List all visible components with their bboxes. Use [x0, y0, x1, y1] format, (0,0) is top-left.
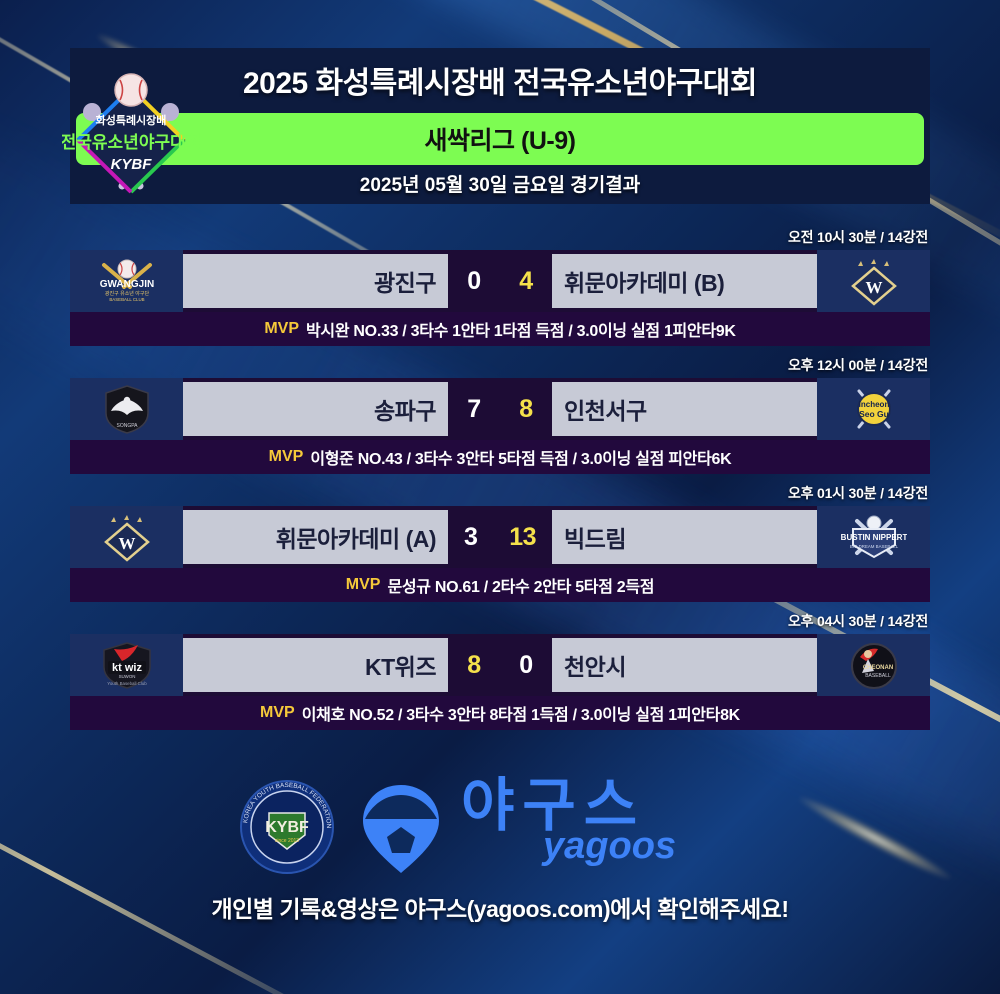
svg-text:Youth Baseball Club: Youth Baseball Club — [107, 681, 147, 686]
home-team-logo: GWANGJIN 광진구 유소년 야구단 BASEBALL CLUB — [70, 250, 183, 312]
game-row[interactable]: 오전 10시 30분 / 14강전 GWANGJIN 광진구 유소년 야구단 B… — [70, 224, 930, 346]
score-cell: 8 0 — [448, 634, 552, 696]
svg-text:Incheon: Incheon — [858, 400, 889, 409]
svg-text:W: W — [118, 534, 135, 553]
home-team-name: 광진구 — [374, 264, 436, 298]
mvp-detail: 박시완 NO.33 / 3타수 1안타 1타점 득점 / 3.0이닝 실점 1피… — [306, 317, 736, 341]
away-team-name: 인천서구 — [564, 392, 647, 426]
kybf-badge-text: KYBF — [265, 819, 309, 836]
away-team-name: 천안시 — [564, 648, 626, 682]
home-team-name: 휘문아카데미 (A) — [276, 520, 436, 554]
footer-logos: KYBF since 2013 KOREA YOUTH BASEBALL FED… — [0, 772, 1000, 882]
svg-text:CHEONAN: CHEONAN — [862, 665, 892, 671]
svg-text:BIG DREAM BASEBALL: BIG DREAM BASEBALL — [849, 544, 898, 549]
scoreline: SONGPA 송파구 7 8 인천서구 Incheon — [70, 378, 930, 440]
mvp-label: MVP — [269, 448, 304, 466]
away-team-cell: 빅드림 — [552, 510, 817, 564]
svg-text:kt wiz: kt wiz — [112, 662, 142, 674]
mvp-bar: MVP 이형준 NO.43 / 3타수 3안타 5타점 득점 / 3.0이닝 실… — [70, 440, 930, 474]
mvp-label: MVP — [346, 576, 381, 594]
svg-text:BASEBALL: BASEBALL — [865, 673, 891, 679]
scoreline: kt wiz SUWON Youth Baseball Club KT위즈 8 … — [70, 634, 930, 696]
game-time-round: 오후 04시 30분 / 14강전 — [70, 608, 930, 634]
svg-text:W: W — [865, 278, 882, 297]
home-team-logo: W — [70, 506, 183, 568]
home-team-logo: SONGPA — [70, 378, 183, 440]
mvp-bar: MVP 문성규 NO.61 / 2타수 2안타 5타점 2득점 — [70, 568, 930, 602]
away-team-cell: 휘문아카데미 (B) — [552, 254, 817, 308]
mvp-detail: 문성규 NO.61 / 2타수 2안타 5타점 2득점 — [387, 573, 654, 597]
game-time-round: 오후 01시 30분 / 14강전 — [70, 480, 930, 506]
score-cell: 7 8 — [448, 378, 552, 440]
svg-text:Seo Gu: Seo Gu — [859, 409, 889, 419]
emblem-top-text: 화성특례시장배 — [96, 113, 167, 127]
svg-text:SONGPA: SONGPA — [116, 423, 138, 429]
yagoos-wordmark: 야구스 yagoos — [461, 775, 761, 879]
home-team-cell: KT위즈 — [183, 638, 448, 692]
away-team-score: 0 — [519, 651, 532, 680]
yagoos-brand: 야구스 yagoos — [349, 775, 761, 879]
home-team-score: 3 — [464, 523, 477, 552]
home-team-cell: 광진구 — [183, 254, 448, 308]
away-team-score: 8 — [519, 395, 532, 424]
league-banner: 새싹리그 (U-9) — [76, 113, 924, 165]
mvp-bar: MVP 박시완 NO.33 / 3타수 1안타 1타점 득점 / 3.0이닝 실… — [70, 312, 930, 346]
away-team-logo: Incheon Seo Gu — [817, 378, 930, 440]
yagoos-mark-icon — [349, 775, 453, 879]
game-row[interactable]: 오후 12시 00분 / 14강전 SONGPA 송파구 7 8 인천서구 — [70, 352, 930, 474]
svg-text:GWANGJIN: GWANGJIN — [99, 279, 153, 290]
home-team-score: 7 — [467, 395, 480, 424]
home-team-logo: kt wiz SUWON Youth Baseball Club — [70, 634, 183, 696]
yagoos-english-text: yagoos — [543, 827, 676, 865]
mvp-detail: 이형준 NO.43 / 3타수 3안타 5타점 득점 / 3.0이닝 실점 피안… — [310, 445, 731, 469]
mvp-detail: 이채호 NO.52 / 3타수 3안타 8타점 1득점 / 3.0이닝 실점 1… — [302, 701, 740, 725]
mvp-bar: MVP 이채호 NO.52 / 3타수 3안타 8타점 1득점 / 3.0이닝 … — [70, 696, 930, 730]
home-team-name: KT위즈 — [365, 648, 436, 682]
away-team-cell: 천안시 — [552, 638, 817, 692]
svg-text:since 2013: since 2013 — [275, 838, 299, 844]
kybf-logo-icon: KYBF since 2013 KOREA YOUTH BASEBALL FED… — [239, 779, 335, 875]
emblem-sub-text: KYBF — [111, 156, 153, 173]
away-team-name: 휘문아카데미 (B) — [564, 264, 724, 298]
away-team-logo: CHEONAN BASEBALL — [817, 634, 930, 696]
mvp-label: MVP — [264, 320, 299, 338]
svg-text:SUWON: SUWON — [118, 674, 135, 679]
score-cell: 3 13 — [448, 506, 552, 568]
home-team-score: 0 — [467, 267, 480, 296]
home-team-cell: 송파구 — [183, 382, 448, 436]
away-team-cell: 인천서구 — [552, 382, 817, 436]
footer-note: 개인별 기록&영상은 야구스(yagoos.com)에서 확인해주세요! — [0, 890, 1000, 924]
away-team-score: 4 — [519, 267, 532, 296]
away-team-name: 빅드림 — [564, 520, 626, 554]
svg-text:BUSTIN NIPPERT: BUSTIN NIPPERT — [841, 533, 907, 542]
mvp-label: MVP — [260, 704, 295, 722]
away-team-score: 13 — [509, 523, 536, 552]
game-row[interactable]: 오후 01시 30분 / 14강전 W 휘문아카데미 (A) 3 13 빅드림 — [70, 480, 930, 602]
game-row[interactable]: 오후 04시 30분 / 14강전 kt wiz SUWON Youth Bas… — [70, 608, 930, 730]
scoreline: GWANGJIN 광진구 유소년 야구단 BASEBALL CLUB 광진구 0… — [70, 250, 930, 312]
tournament-emblem-icon: 화성특례시장배 전국유소년야구대회 KYBF — [62, 68, 200, 200]
score-cell: 0 4 — [448, 250, 552, 312]
league-banner-label: 새싹리그 (U-9) — [425, 121, 576, 157]
home-team-cell: 휘문아카데미 (A) — [183, 510, 448, 564]
svg-text:광진구 유소년 야구단: 광진구 유소년 야구단 — [104, 290, 149, 297]
away-team-logo: W — [817, 250, 930, 312]
emblem-main-text: 전국유소년야구대회 — [62, 133, 200, 152]
home-team-name: 송파구 — [374, 392, 436, 426]
away-team-logo: BUSTIN NIPPERT BIG DREAM BASEBALL — [817, 506, 930, 568]
home-team-score: 8 — [467, 651, 480, 680]
game-time-round: 오후 12시 00분 / 14강전 — [70, 352, 930, 378]
svg-text:BASEBALL CLUB: BASEBALL CLUB — [109, 297, 144, 302]
scoreline: W 휘문아카데미 (A) 3 13 빅드림 BUSTI — [70, 506, 930, 568]
game-time-round: 오전 10시 30분 / 14강전 — [70, 224, 930, 250]
